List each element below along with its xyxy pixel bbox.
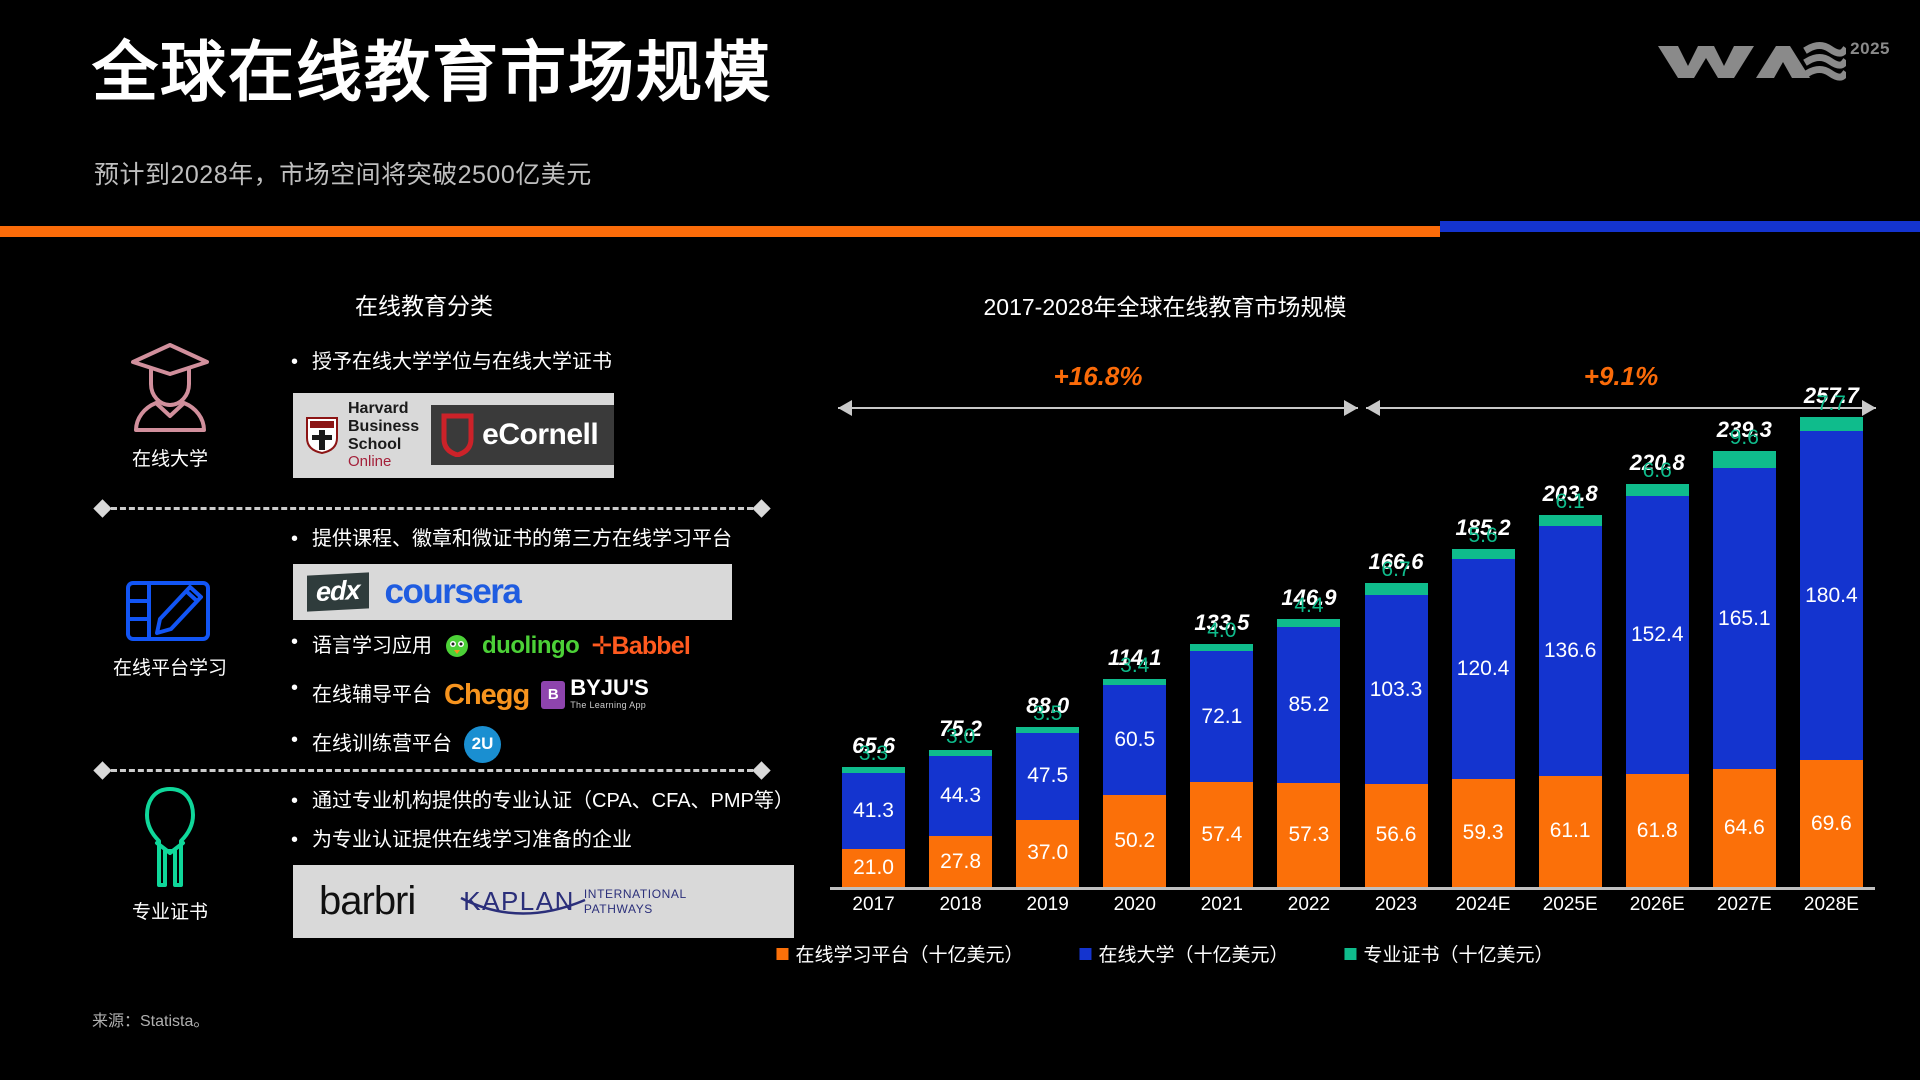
kaplan-swoosh-icon xyxy=(459,896,589,922)
bar-segment-value: 64.6 xyxy=(1724,816,1765,840)
bar-segment-value: 72.1 xyxy=(1201,705,1242,729)
bar-segment-value: 120.4 xyxy=(1457,657,1510,681)
x-axis-tick-label: 2019 xyxy=(1004,894,1091,916)
bar-segment: 44.3 xyxy=(929,756,992,837)
bar-chart-plot: 65.63.341.321.075.23.044.327.888.03.547.… xyxy=(830,400,1875,890)
bar-segment: 7.7 xyxy=(1800,417,1863,431)
bar-stack: 133.54.072.157.4 xyxy=(1190,644,1253,887)
bullet-dot-icon: • xyxy=(291,348,298,377)
bar-segment: 136.6 xyxy=(1539,526,1602,775)
page-subtitle: 预计到2028年，市场空间将突破2500亿美元 xyxy=(94,155,592,191)
section-divider-1 xyxy=(96,501,768,515)
x-axis-line xyxy=(830,887,1875,890)
x-axis-labels: 20172018201920202021202220232024E2025E20… xyxy=(830,894,1875,916)
bar-column: 88.03.547.537.0 xyxy=(1004,400,1091,887)
bar-segment: 64.6 xyxy=(1713,769,1776,887)
bullet-dot-icon: • xyxy=(291,628,298,657)
cagr-label: +9.1% xyxy=(1584,361,1658,392)
bar-stack: 185.25.6120.459.3 xyxy=(1452,549,1515,887)
bar-column: 239.39.6165.164.6 xyxy=(1701,400,1788,887)
logo-strip-platforms: edx coursera xyxy=(293,564,732,620)
x-axis-tick-label: 2020 xyxy=(1091,894,1178,916)
category-icon-block: 专业证书 xyxy=(95,785,245,924)
bar-column: 185.25.6120.459.3 xyxy=(1440,400,1527,887)
dashed-line xyxy=(111,507,753,510)
category-online-university: 在线大学 • 授予在线大学学位与在线大学证书 xyxy=(95,340,775,490)
category-bullets: • 提供课程、徽章和微证书的第三方在线学习平台 edx coursera • 语… xyxy=(291,525,732,773)
graduate-cap-icon xyxy=(128,340,212,436)
byjus-logo: B BYJU'S The Learning App xyxy=(541,678,649,712)
ecornell-text: eCornell xyxy=(482,418,598,452)
bullet-text: 通过专业机构提供的专业认证（CPA、CFA、PMP等） xyxy=(312,787,794,816)
diamond-icon xyxy=(93,761,111,779)
bar-column: 114.13.460.550.2 xyxy=(1091,400,1178,887)
x-axis-tick-label: 2017 xyxy=(830,894,917,916)
bar-segment-value: 57.4 xyxy=(1201,823,1242,847)
x-axis-tick-label: 2027E xyxy=(1701,894,1788,916)
x-axis-tick-label: 2028E xyxy=(1788,894,1875,916)
bar-segment: 59.3 xyxy=(1452,779,1515,887)
category-icon-block: 在线平台学习 xyxy=(95,567,245,680)
bullet-text-with-logos: 在线训练营平台 2U xyxy=(312,726,501,763)
chegg-logo: Chegg xyxy=(444,674,529,716)
bar-segment: 4.0 xyxy=(1190,644,1253,651)
x-axis-tick-label: 2023 xyxy=(1352,894,1439,916)
edx-logo: edx xyxy=(307,572,369,611)
bullet-text: 为专业认证提供在线学习准备的企业 xyxy=(312,826,632,855)
diamond-icon xyxy=(752,761,770,779)
bullet-item: • 为专业认证提供在线学习准备的企业 xyxy=(291,826,794,855)
bullet-text: 提供课程、徽章和微证书的第三方在线学习平台 xyxy=(312,525,732,554)
bar-segment: 57.3 xyxy=(1277,783,1340,888)
x-axis-tick-label: 2026E xyxy=(1614,894,1701,916)
legend-item[interactable]: 在线大学（十亿美元） xyxy=(1079,940,1288,967)
bar-group: 65.63.341.321.075.23.044.327.888.03.547.… xyxy=(830,400,1875,887)
bar-segment: 85.2 xyxy=(1277,627,1340,782)
bar-segment: 60.5 xyxy=(1103,685,1166,795)
bar-segment-value: 41.3 xyxy=(853,799,894,823)
bar-segment-value: 3.5 xyxy=(1033,702,1062,726)
bar-stack: 239.39.6165.164.6 xyxy=(1713,451,1776,887)
bar-segment: 50.2 xyxy=(1103,795,1166,887)
bar-segment-value: 152.4 xyxy=(1631,623,1684,647)
harvard-business-school-logo: Harvard Business School Online xyxy=(293,393,431,478)
bar-segment: 9.6 xyxy=(1713,451,1776,469)
bar-stack: 220.86.6152.461.8 xyxy=(1626,484,1689,887)
babbel-logo: ✛Babbel xyxy=(591,628,690,664)
x-axis-tick-label: 2025E xyxy=(1527,894,1614,916)
bar-segment: 37.0 xyxy=(1016,820,1079,887)
legend-label: 专业证书（十亿美元） xyxy=(1364,940,1554,967)
bar-segment-value: 4.4 xyxy=(1294,594,1323,618)
bar-column: 257.77.7180.469.6 xyxy=(1788,400,1875,887)
wave-logo: 2025 xyxy=(1656,38,1890,82)
bullet-text-with-logos: 在线辅导平台 Chegg B BYJU'S The Learning App xyxy=(312,674,649,716)
bar-segment-value: 9.6 xyxy=(1730,426,1759,450)
left-panel-title: 在线教育分类 xyxy=(355,287,493,321)
bar-segment: 4.4 xyxy=(1277,619,1340,627)
bar-stack: 75.23.044.327.8 xyxy=(929,750,992,887)
bar-stack: 166.66.7103.356.6 xyxy=(1365,583,1428,887)
bar-segment-value: 6.6 xyxy=(1643,459,1672,483)
barbri-logo: barbri xyxy=(319,879,415,924)
bar-segment-value: 50.2 xyxy=(1114,829,1155,853)
bar-segment: 5.6 xyxy=(1452,549,1515,559)
bullet-text: 在线训练营平台 xyxy=(312,730,452,759)
logo-strip-certificates: barbri KAPLAN INTERNATIONAL PATHWAYS xyxy=(293,865,794,938)
bullet-dot-icon: • xyxy=(291,787,298,816)
bullet-dot-icon: • xyxy=(291,826,298,855)
bar-segment: 152.4 xyxy=(1626,496,1689,774)
legend-swatch-icon xyxy=(1345,948,1357,960)
bar-segment-value: 61.8 xyxy=(1637,819,1678,843)
category-icon-block: 在线大学 xyxy=(95,340,245,471)
bar-column: 203.86.1136.661.1 xyxy=(1527,400,1614,887)
legend-label: 在线学习平台（十亿美元） xyxy=(795,940,1023,967)
legend-item[interactable]: 专业证书（十亿美元） xyxy=(1345,940,1554,967)
divider-bar-orange xyxy=(0,226,1440,237)
bullet-text: 在线辅导平台 xyxy=(312,681,432,710)
bar-segment-value: 27.8 xyxy=(940,850,981,874)
hbs-line-4: Online xyxy=(348,454,419,471)
bar-segment-value: 3.3 xyxy=(859,742,888,766)
category-label: 在线平台学习 xyxy=(113,653,227,680)
diamond-icon xyxy=(752,499,770,517)
bullet-text: 授予在线大学学位与在线大学证书 xyxy=(312,348,612,377)
bar-segment-value: 57.3 xyxy=(1288,823,1329,847)
hbs-line-3: School xyxy=(348,436,419,454)
duolingo-owl-icon xyxy=(444,633,470,659)
page-title: 全球在线教育市场规模 xyxy=(92,38,772,107)
coursera-logo: coursera xyxy=(385,572,521,612)
bar-column: 166.66.7103.356.6 xyxy=(1352,400,1439,887)
cornell-shield-icon xyxy=(441,413,474,457)
kaplan-logo: KAPLAN INTERNATIONAL PATHWAYS xyxy=(463,886,687,917)
bar-segment-value: 6.7 xyxy=(1381,558,1410,582)
bar-stack: 257.77.7180.469.6 xyxy=(1800,417,1863,887)
chart-legend: 在线学习平台（十亿美元）在线大学（十亿美元）专业证书（十亿美元） xyxy=(776,940,1553,967)
legend-item[interactable]: 在线学习平台（十亿美元） xyxy=(776,940,1023,967)
bar-segment-value: 47.5 xyxy=(1027,764,1068,788)
legend-label: 在线大学（十亿美元） xyxy=(1098,940,1288,967)
bullet-item: • 在线辅导平台 Chegg B BYJU'S The Learning App xyxy=(291,674,732,716)
x-axis-tick-label: 2021 xyxy=(1178,894,1265,916)
bar-segment-value: 6.1 xyxy=(1556,490,1585,514)
bar-segment-value: 4.0 xyxy=(1207,619,1236,643)
bar-segment: 72.1 xyxy=(1190,651,1253,782)
bar-column: 75.23.044.327.8 xyxy=(917,400,1004,887)
bar-column: 65.63.341.321.0 xyxy=(830,400,917,887)
category-professional-certificate: 专业证书 • 通过专业机构提供的专业认证（CPA、CFA、PMP等） • 为专业… xyxy=(95,785,775,975)
cagr-label: +16.8% xyxy=(1054,361,1143,392)
bullet-item: • 通过专业机构提供的专业认证（CPA、CFA、PMP等） xyxy=(291,787,794,816)
bar-segment: 47.5 xyxy=(1016,733,1079,820)
bar-segment: 41.3 xyxy=(842,773,905,848)
byjus-mark-icon: B xyxy=(541,681,565,709)
bar-column: 146.94.485.257.3 xyxy=(1265,400,1352,887)
bar-segment-value: 56.6 xyxy=(1376,823,1417,847)
bullet-item: • 授予在线大学学位与在线大学证书 xyxy=(291,348,614,377)
twou-logo: 2U xyxy=(464,726,501,763)
bar-segment: 120.4 xyxy=(1452,559,1515,779)
bar-segment-value: 5.6 xyxy=(1468,524,1497,548)
diamond-icon xyxy=(93,499,111,517)
bar-segment: 56.6 xyxy=(1365,784,1428,887)
bullet-item: • 语言学习应用 duolingo ✛Babbel xyxy=(291,628,732,664)
logo-strip-universities: Harvard Business School Online eCornell xyxy=(293,393,614,478)
bar-segment: 61.1 xyxy=(1539,776,1602,887)
byjus-text: BYJU'S xyxy=(570,678,649,699)
harvard-text-block: Harvard Business School Online xyxy=(348,400,419,471)
source-note: 来源：Statista。 xyxy=(92,1007,209,1031)
duolingo-logo: duolingo xyxy=(482,629,579,664)
bar-segment-value: 59.3 xyxy=(1463,821,1504,845)
bar-segment-value: 60.5 xyxy=(1114,728,1155,752)
bar-segment: 180.4 xyxy=(1800,431,1863,760)
bar-segment: 21.0 xyxy=(842,849,905,887)
bar-segment: 103.3 xyxy=(1365,595,1428,783)
logo-year: 2025 xyxy=(1850,40,1890,57)
bar-segment-value: 37.0 xyxy=(1027,841,1068,865)
bar-segment-value: 44.3 xyxy=(940,784,981,808)
bar-segment-value: 61.1 xyxy=(1550,819,1591,843)
bar-column: 220.86.6152.461.8 xyxy=(1614,400,1701,887)
bar-segment-value: 7.7 xyxy=(1817,392,1846,416)
bar-segment-value: 21.0 xyxy=(853,856,894,880)
hbs-line-1: Harvard xyxy=(348,400,419,418)
bullet-item: • 提供课程、徽章和微证书的第三方在线学习平台 xyxy=(291,525,732,554)
bar-stack: 88.03.547.537.0 xyxy=(1016,727,1079,887)
bar-segment-value: 165.1 xyxy=(1718,607,1771,631)
hbs-line-2: Business xyxy=(348,418,419,436)
bar-segment: 6.6 xyxy=(1626,484,1689,496)
category-online-platform: 在线平台学习 • 提供课程、徽章和微证书的第三方在线学习平台 edx cours… xyxy=(95,525,775,755)
slide-root: 全球在线教育市场规模 预计到2028年，市场空间将突破2500亿美元 2025 … xyxy=(0,0,1920,1080)
bar-stack: 203.86.1136.661.1 xyxy=(1539,515,1602,887)
category-bullets: • 授予在线大学学位与在线大学证书 Harvard Busi xyxy=(291,348,614,478)
tablet-pencil-icon xyxy=(124,567,216,645)
chart-title: 2017-2028年全球在线教育市场规模 xyxy=(984,288,1347,322)
byjus-subtext: The Learning App xyxy=(570,699,649,712)
bar-segment: 27.8 xyxy=(929,836,992,887)
x-axis-tick-label: 2024E xyxy=(1440,894,1527,916)
kaplan-subtext: INTERNATIONAL PATHWAYS xyxy=(584,887,687,915)
bar-segment: 165.1 xyxy=(1713,468,1776,769)
bar-segment-value: 103.3 xyxy=(1370,678,1423,702)
bullet-text: 语言学习应用 xyxy=(312,632,432,661)
bar-segment: 61.8 xyxy=(1626,774,1689,887)
x-axis-tick-label: 2018 xyxy=(917,894,1004,916)
bar-segment-value: 85.2 xyxy=(1288,693,1329,717)
bullet-dot-icon: • xyxy=(291,525,298,554)
category-label: 专业证书 xyxy=(132,897,208,924)
legend-swatch-icon xyxy=(1079,948,1091,960)
bar-stack: 114.13.460.550.2 xyxy=(1103,679,1166,887)
bar-segment-value: 136.6 xyxy=(1544,639,1597,663)
bar-segment: 57.4 xyxy=(1190,782,1253,887)
bullet-dot-icon: • xyxy=(291,674,298,703)
ecornell-logo: eCornell xyxy=(431,405,614,465)
bullet-text-with-logos: 语言学习应用 duolingo ✛Babbel xyxy=(312,628,690,664)
bar-segment-value: 69.6 xyxy=(1811,812,1852,836)
x-axis-tick-label: 2022 xyxy=(1265,894,1352,916)
bullet-item: • 在线训练营平台 2U xyxy=(291,726,732,763)
harvard-shield-icon xyxy=(305,416,339,454)
bar-segment-value: 3.0 xyxy=(946,725,975,749)
divider-bar-blue xyxy=(1440,221,1920,232)
bar-segment: 6.1 xyxy=(1539,515,1602,526)
bar-column: 133.54.072.157.4 xyxy=(1178,400,1265,887)
bar-segment: 6.7 xyxy=(1365,583,1428,595)
bar-segment: 69.6 xyxy=(1800,760,1863,887)
certified-person-icon xyxy=(131,785,209,889)
bar-segment-value: 3.4 xyxy=(1120,654,1149,678)
bar-segment-value: 180.4 xyxy=(1805,584,1858,608)
legend-swatch-icon xyxy=(776,948,788,960)
category-bullets: • 通过专业机构提供的专业认证（CPA、CFA、PMP等） • 为专业认证提供在… xyxy=(291,787,794,938)
category-label: 在线大学 xyxy=(132,444,208,471)
bar-stack: 146.94.485.257.3 xyxy=(1277,619,1340,887)
wave-wordmark-icon xyxy=(1656,38,1846,82)
bullet-dot-icon: • xyxy=(291,726,298,755)
bar-stack: 65.63.341.321.0 xyxy=(842,767,905,887)
